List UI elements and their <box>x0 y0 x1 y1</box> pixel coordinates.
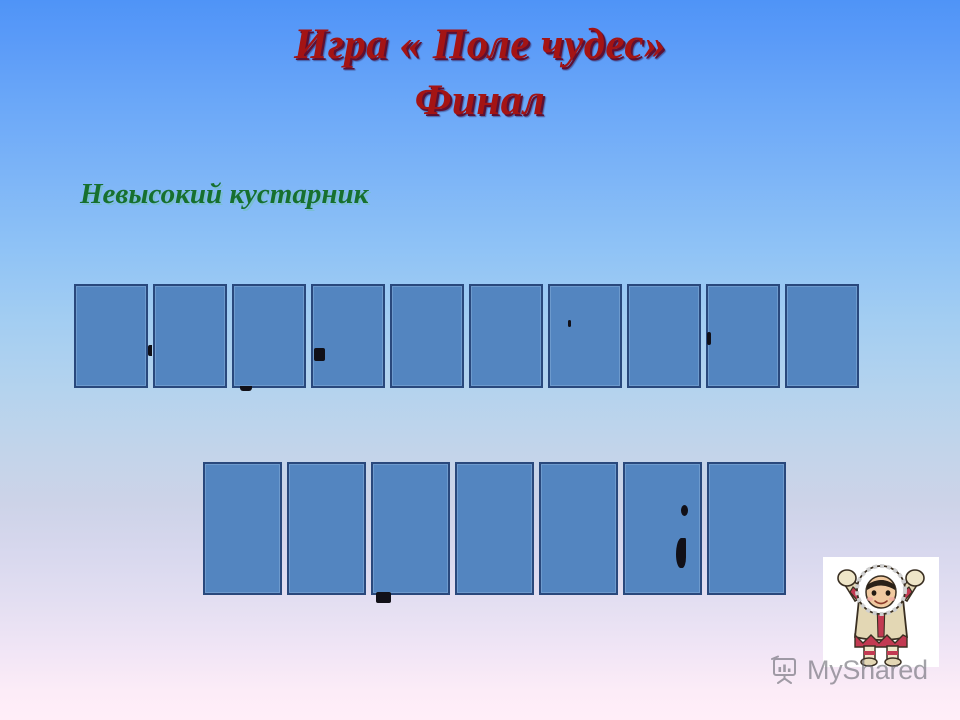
presentation-screen-icon <box>770 655 800 685</box>
letter-card[interactable] <box>153 284 227 388</box>
letter-card[interactable] <box>203 462 282 595</box>
letter-card[interactable] <box>706 284 780 388</box>
letter-card[interactable] <box>455 462 534 595</box>
eskimo-child-image <box>823 557 939 667</box>
title-line-secondary: Финал <box>0 78 960 124</box>
letter-card[interactable] <box>371 462 450 595</box>
letter-card[interactable] <box>623 462 702 595</box>
letter-card[interactable] <box>469 284 543 388</box>
myshared-watermark: MyShared <box>770 655 928 685</box>
answer-row-bottom <box>203 462 786 595</box>
letter-card[interactable] <box>311 284 385 388</box>
slide-title: Игра « Поле чудес» Финал <box>0 22 960 123</box>
letter-card[interactable] <box>548 284 622 388</box>
watermark-text: MyShared <box>807 657 928 684</box>
answer-row-top <box>74 284 859 388</box>
letter-card[interactable] <box>232 284 306 388</box>
letter-card[interactable] <box>390 284 464 388</box>
title-line-primary: Игра « Поле чудес» <box>0 22 960 68</box>
letter-card[interactable] <box>785 284 859 388</box>
letter-card[interactable] <box>707 462 786 595</box>
letter-card[interactable] <box>539 462 618 595</box>
letter-card[interactable] <box>287 462 366 595</box>
clue-text: Невысокий кустарник <box>80 178 368 211</box>
clue-label: Невысокий кустарник <box>80 178 368 210</box>
letter-card[interactable] <box>627 284 701 388</box>
slide-canvas: Игра « Поле чудес» Финал Невысокий куста… <box>0 0 960 720</box>
letter-card[interactable] <box>74 284 148 388</box>
